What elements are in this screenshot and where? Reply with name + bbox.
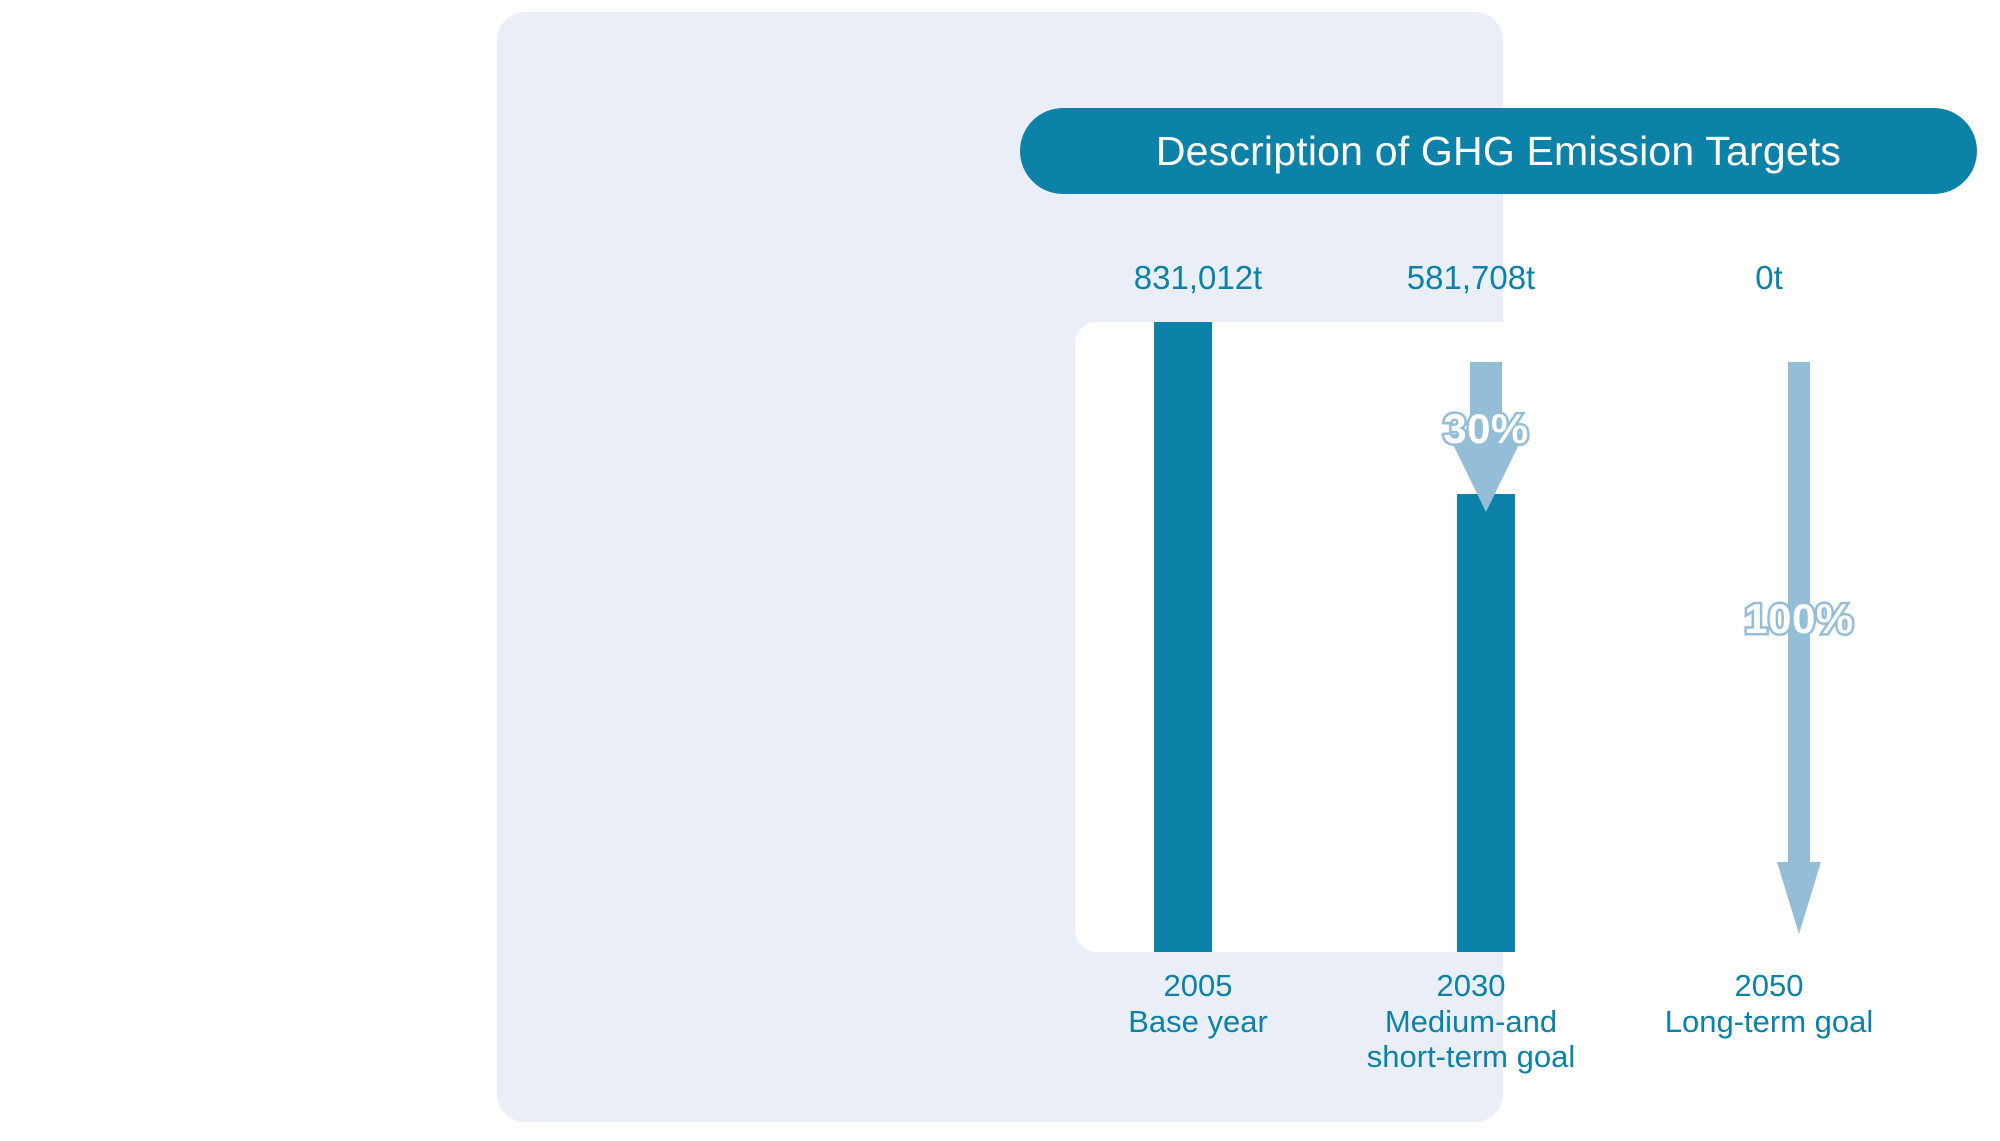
plot-area: 30% 100% [1075, 322, 1917, 952]
category-desc-2005: Base year [1128, 1004, 1268, 1039]
value-cell-2030: 581,708t [1321, 252, 1621, 304]
page-title: Description of GHG Emission Targets [1156, 128, 1841, 175]
value-label-2050: 0t [1755, 259, 1783, 297]
category-desc-2050: Long-term goal [1665, 1004, 1874, 1039]
bar-2005 [1154, 322, 1212, 952]
category-label-row: 2005 Base year 2030 Medium-and short-ter… [1075, 967, 1917, 1074]
value-cell-2050: 0t [1621, 252, 1917, 304]
category-year-2030: 2030 [1437, 967, 1506, 1004]
category-2030: 2030 Medium-and short-term goal [1321, 967, 1621, 1074]
value-label-row: 831,012t 581,708t 0t [1075, 252, 1917, 304]
reduction-percent-100: 100% [1744, 595, 1853, 643]
value-label-2030: 581,708t [1407, 259, 1535, 297]
value-cell-2005: 831,012t [1075, 252, 1321, 304]
category-year-2005: 2005 [1164, 967, 1233, 1004]
reduction-percent-30: 30% [1443, 405, 1529, 453]
arrow-head [1777, 862, 1821, 934]
chart-canvas: Description of GHG Emission Targets 831,… [0, 0, 2000, 1141]
chart-card: Description of GHG Emission Targets 831,… [497, 12, 1503, 1122]
chart-title-banner: Description of GHG Emission Targets [1020, 108, 1977, 194]
bar-2030 [1457, 494, 1515, 952]
category-2005: 2005 Base year [1075, 967, 1321, 1074]
category-desc-2030: Medium-and short-term goal [1367, 1004, 1575, 1074]
down-arrow-100-icon [1743, 362, 1855, 934]
value-label-2005: 831,012t [1134, 259, 1262, 297]
category-2050: 2050 Long-term goal [1621, 967, 1917, 1074]
category-year-2050: 2050 [1735, 967, 1804, 1004]
